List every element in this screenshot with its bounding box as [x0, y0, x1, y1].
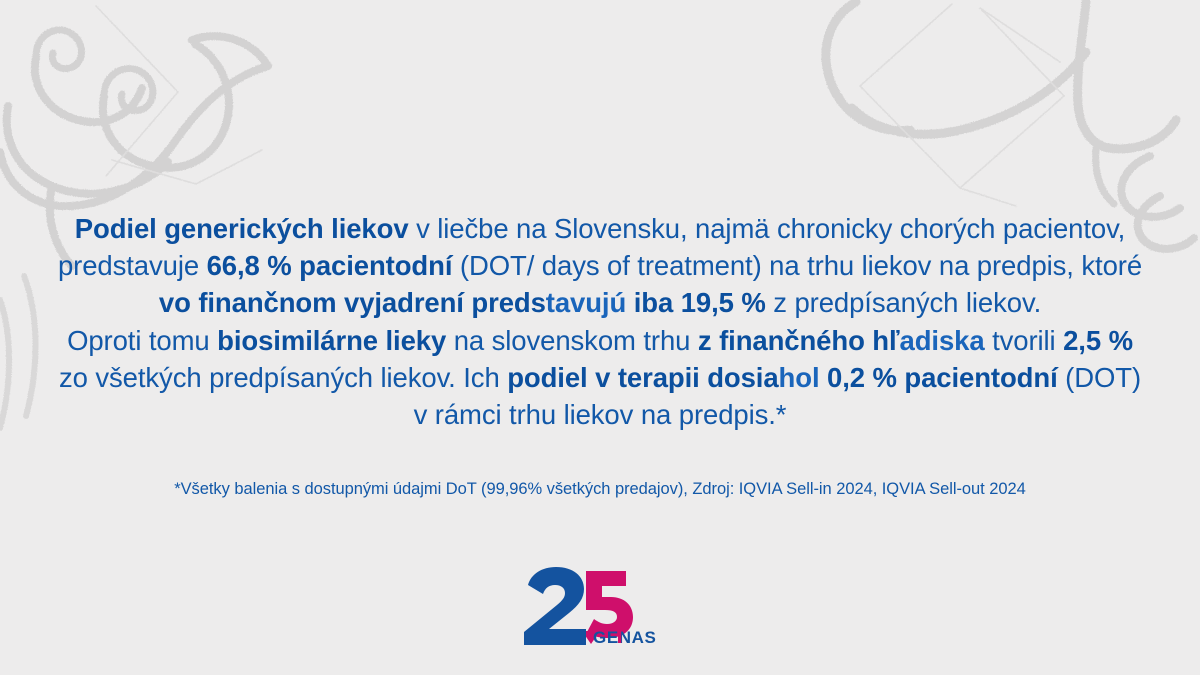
- headline-p2-text-3: tvorili: [985, 325, 1064, 356]
- headline-p2-bold-financial: z finančného hľ: [698, 325, 900, 356]
- logo-wordmark: GENAS: [593, 628, 656, 647]
- headline-p2-stat-value: 2,5 %: [1063, 325, 1133, 356]
- headline-p1-bold-financial-tail: tavujú: [546, 287, 626, 318]
- headline-p2-text-4: zo všetkých predpísaných liekov. Ich: [59, 362, 507, 393]
- headline-p2-text-1: Oproti tomu: [67, 325, 217, 356]
- headline-p1-bold-lead: Podiel generických liekov: [75, 213, 409, 244]
- genas-anniversary-logo: GENAS: [520, 563, 680, 647]
- slide-canvas: Podiel generických liekov v liečbe na Sl…: [0, 0, 1200, 675]
- headline-p1-bold-financial: vo finančnom vyjadrení preds: [159, 287, 546, 318]
- headline-p2-bold-financial-tail: adiska: [900, 325, 985, 356]
- headline-p1-stat-dot: 66,8 % pacientodní: [207, 250, 453, 281]
- logo-wordmark-accent: [618, 631, 621, 643]
- headline-p2-space-1: [819, 362, 827, 393]
- headline-paragraph-2: Oproti tomu biosimilárne lieky na sloven…: [52, 322, 1148, 433]
- headline-p1-text-3: z predpísaných liekov.: [766, 287, 1041, 318]
- headline-p2-text-2: na slovenskom trhu: [446, 325, 698, 356]
- headline-p2-bold-therapy-tail: hol: [779, 362, 820, 393]
- headline-p2-bold-biosimilar: biosimilárne lieky: [217, 325, 446, 356]
- footnote-source: *Všetky balenia s dostupnými údajmi DoT …: [52, 478, 1148, 500]
- headline-paragraph-1: Podiel generických liekov v liečbe na Sl…: [52, 210, 1148, 321]
- logo-numeral-2: [524, 567, 586, 645]
- headline-p1-space-1: [626, 287, 634, 318]
- headline-block: Podiel generických liekov v liečbe na Sl…: [52, 210, 1148, 433]
- headline-p2-stat-dot: 0,2 % pacientodní: [827, 362, 1058, 393]
- logo-wordmark-text: GENAS: [593, 628, 656, 647]
- headline-p2-bold-therapy: podiel v terapii dosia: [507, 362, 778, 393]
- headline-p1-stat-value: iba 19,5 %: [634, 287, 766, 318]
- headline-p1-text-2: (DOT/ days of treatment) na trhu liekov …: [452, 250, 1142, 281]
